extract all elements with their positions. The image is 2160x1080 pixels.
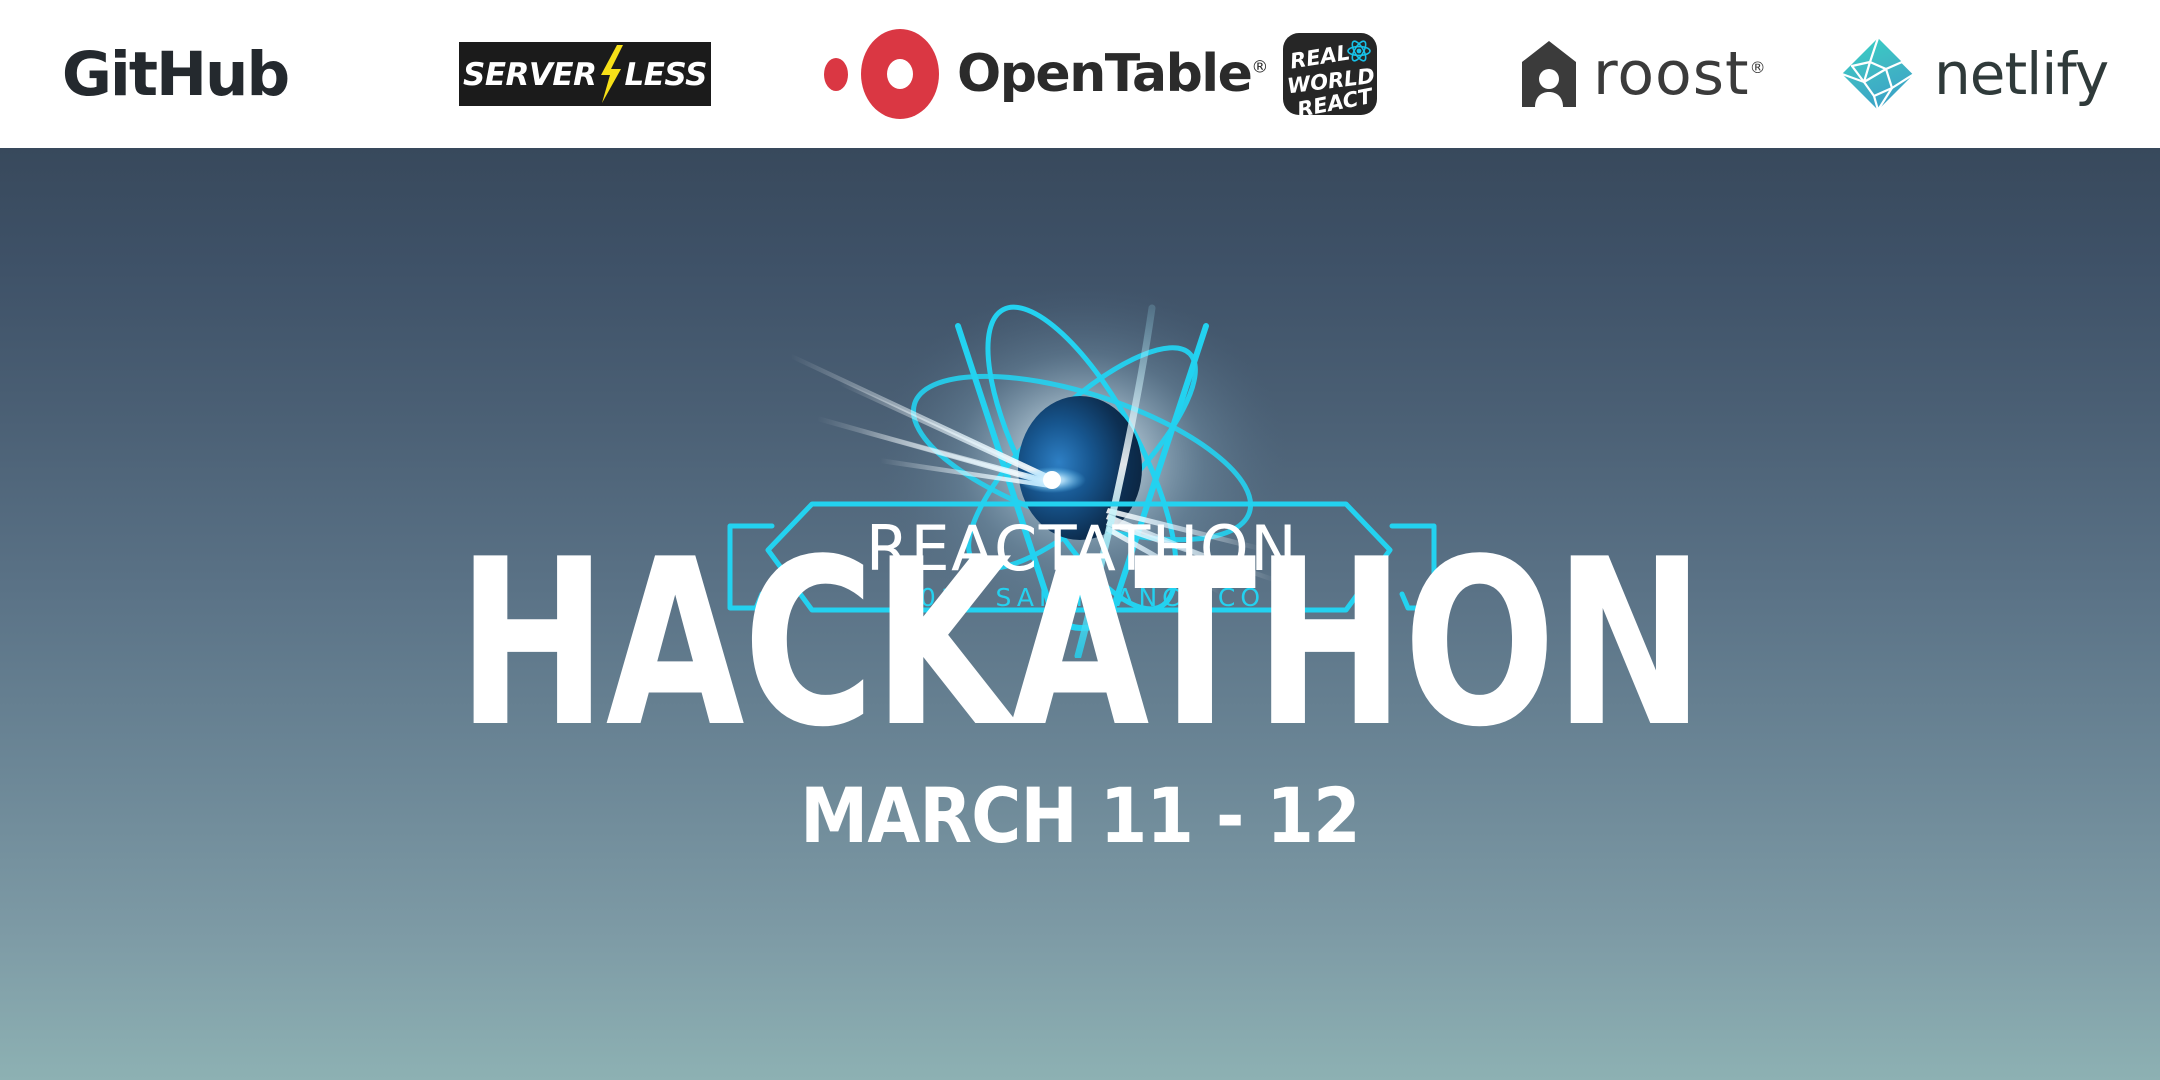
github-wordmark: GitHub [62,44,288,105]
serverless-label-a: SERVER [463,60,596,91]
sponsor-logo-github[interactable]: GitHub [60,0,290,148]
event-date: MARCH 11 - 12 [108,778,2052,854]
registered-mark: ® [1750,58,1766,77]
page-title: HACKATHON [238,530,1923,760]
opentable-wordmark: OpenTable® [957,48,1268,100]
opentable-ring-icon [861,29,939,119]
sponsor-bar: GitHub SERVER LESS OpenTable® [0,0,2160,148]
serverless-badge: SERVER LESS [459,42,711,106]
poster-canvas: GitHub SERVER LESS OpenTable® [0,0,2160,1080]
hero-section: REACTATHON 2017 SAN FRANCISCO HACKATHON … [0,148,2160,1080]
opentable-dot-icon [824,58,848,91]
react-atom-icon [1346,38,1372,64]
sponsor-logo-opentable[interactable]: OpenTable® [810,0,1204,148]
registered-mark: ® [1251,58,1268,78]
real-world-react-badge: REAL WORLD REACT [1283,33,1377,115]
netlify-wordmark: netlify [1934,45,2108,103]
serverless-label-b: LESS [624,60,706,91]
lightning-bolt-icon [595,45,625,103]
netlify-diamond-icon [1840,36,1916,112]
sponsor-logo-roost[interactable]: roost® [1500,0,1822,148]
sponsor-logo-serverless[interactable]: SERVER LESS [440,0,730,148]
sponsor-logo-real-world-react[interactable]: REAL WORLD REACT [1270,0,1390,148]
sponsor-logo-netlify[interactable]: netlify [1830,0,2140,148]
house-person-icon [1522,41,1576,107]
roost-wordmark: roost® [1593,44,1766,104]
